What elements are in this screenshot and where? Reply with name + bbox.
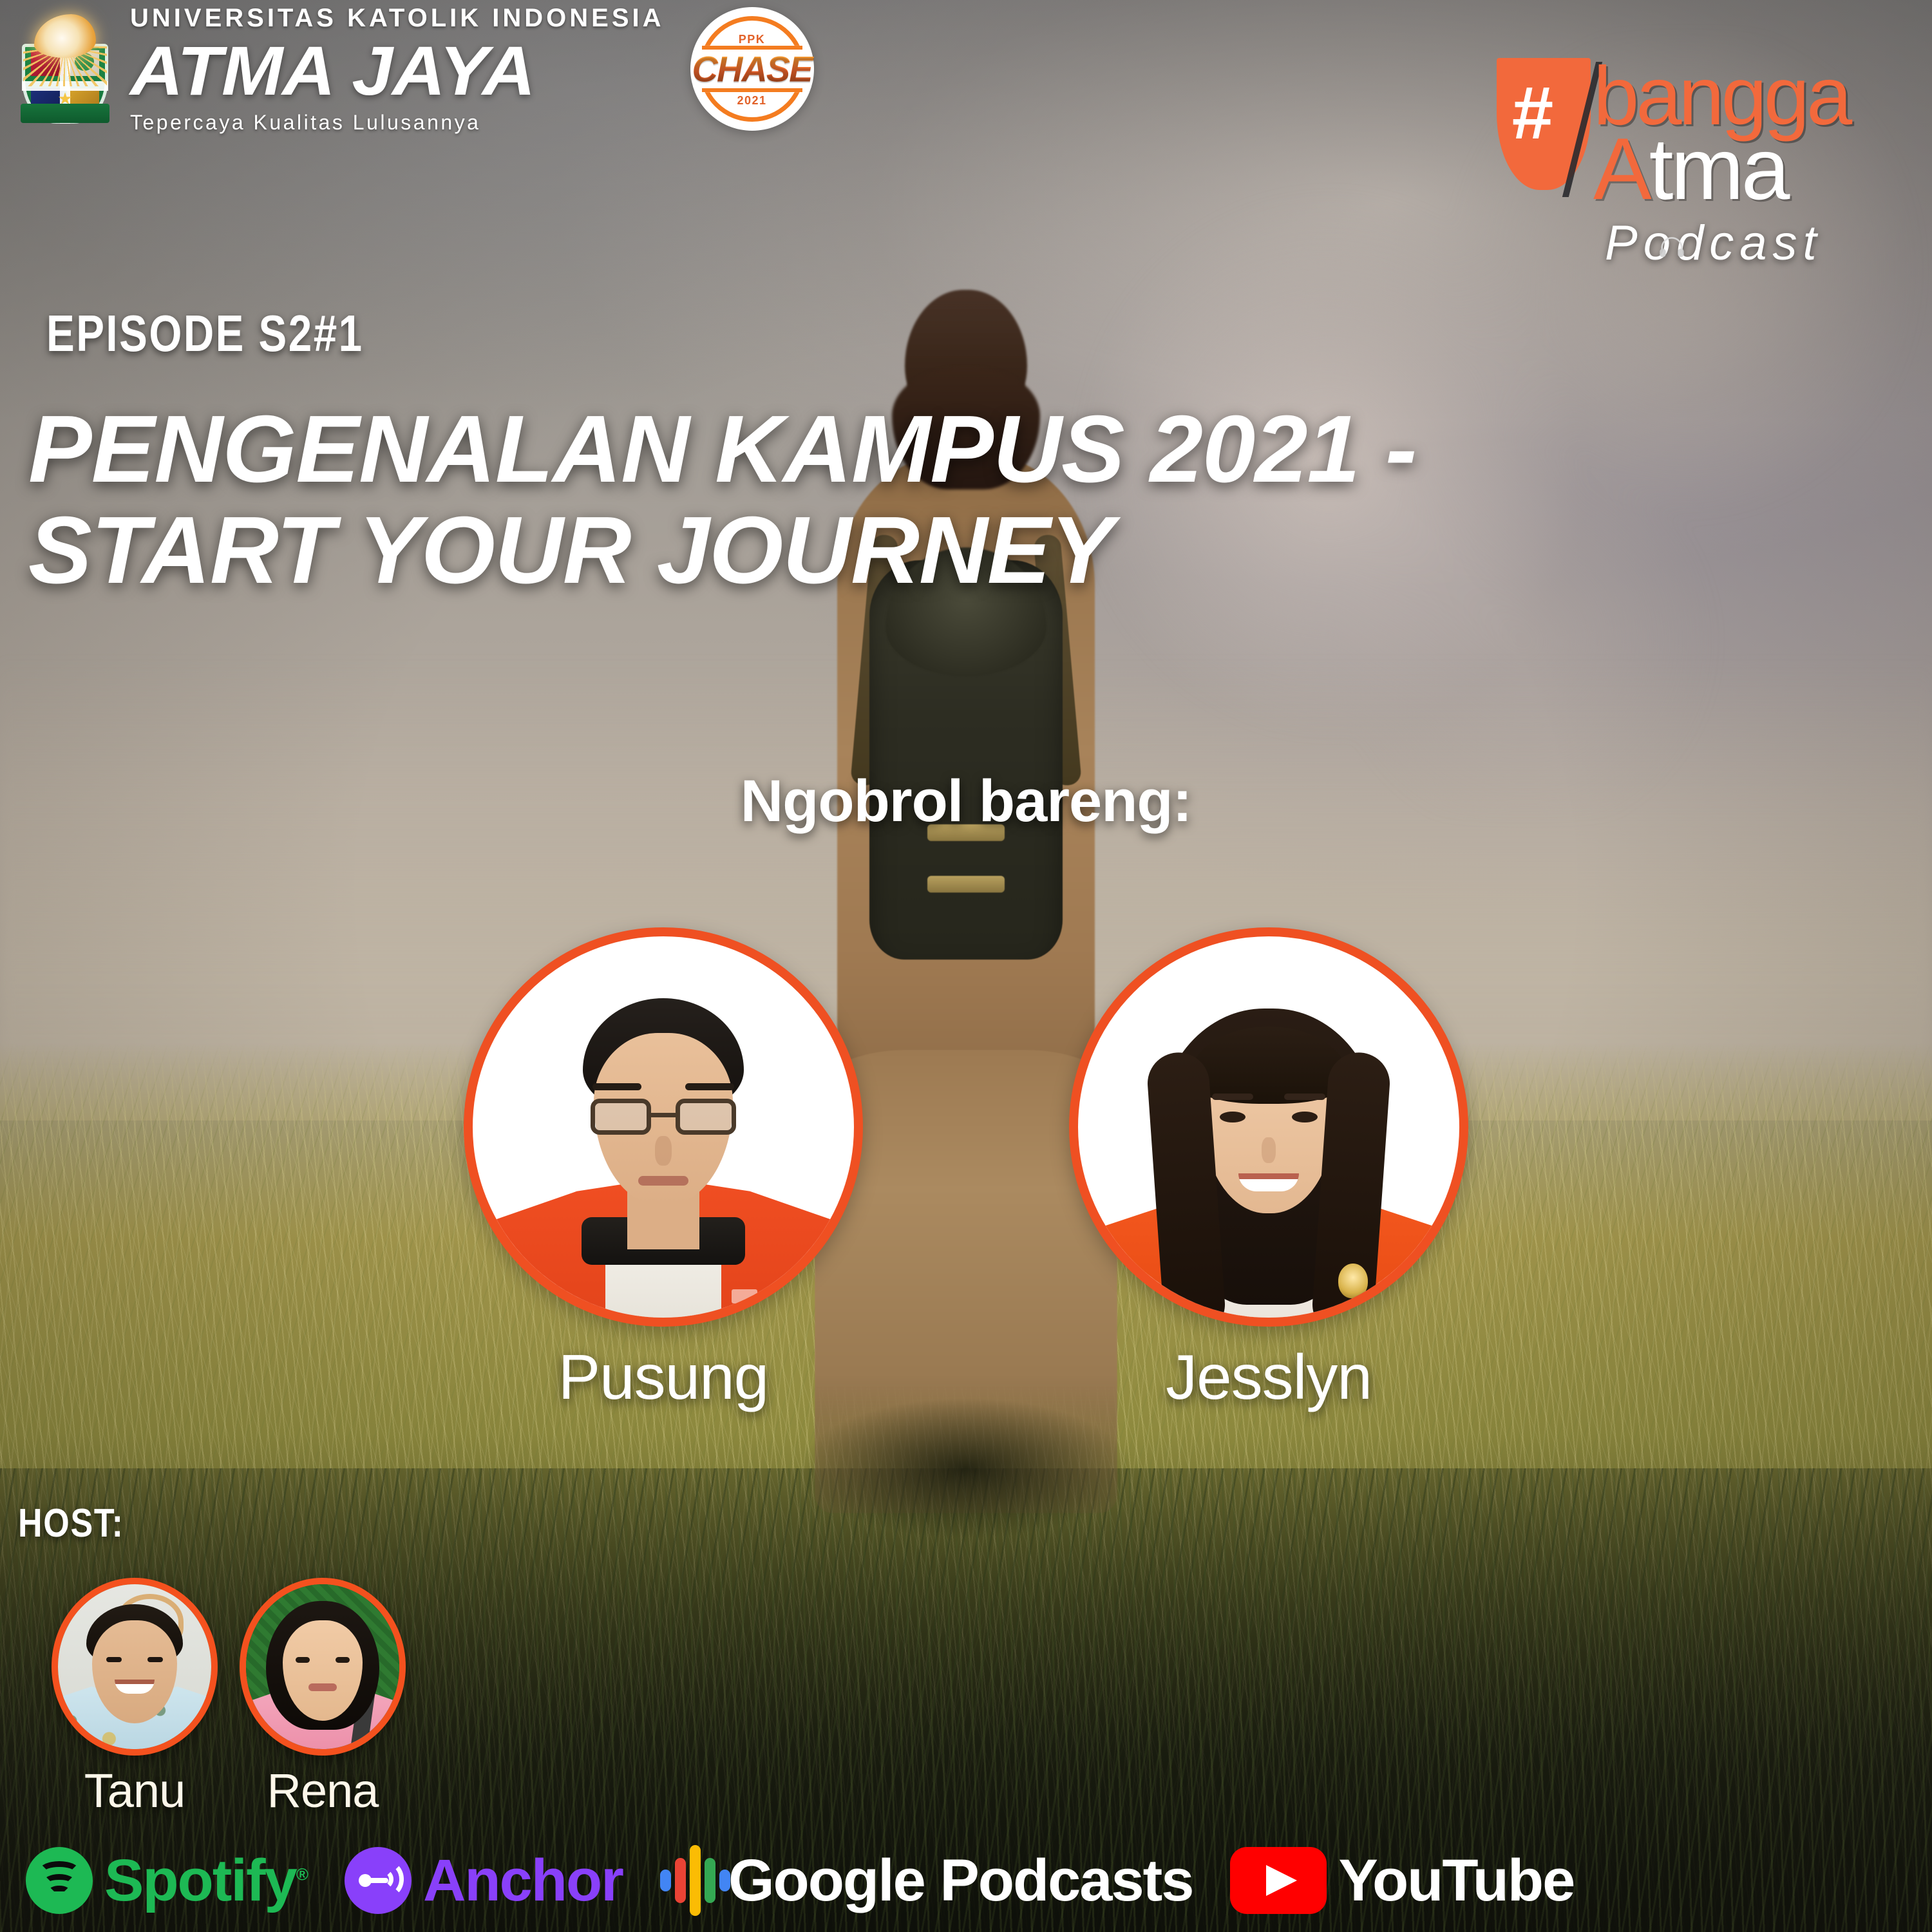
guests-list: Pusung Jesslyn	[0, 927, 1932, 1414]
guest-item: Pusung	[464, 927, 863, 1414]
platform-google-podcasts[interactable]: Google Podcasts	[660, 1845, 1193, 1916]
anchor-label: Anchor	[423, 1851, 623, 1910]
anchor-icon	[345, 1847, 412, 1914]
host-avatar	[52, 1578, 218, 1756]
university-name: ATMA JAYA	[130, 36, 696, 106]
episode-label: EPISODE S2#1	[46, 304, 364, 363]
guest-name: Jesslyn	[1166, 1341, 1372, 1414]
podcast-episode-poster: ★ UNIVERSITAS KATOLIK INDONESIA ATMA JAY…	[0, 0, 1932, 1932]
host-avatar	[240, 1578, 406, 1756]
guest-name: Pusung	[558, 1341, 768, 1414]
host-item: Tanu	[52, 1578, 218, 1818]
university-line-top: UNIVERSITAS KATOLIK INDONESIA	[130, 5, 665, 31]
logo-letters-tma: tma	[1649, 120, 1788, 218]
university-tagline: Tepercaya Kualitas Lulusannya	[130, 112, 665, 133]
logo-word-atma: Atma	[1593, 125, 1787, 213]
hosts-list: Tanu Rena	[52, 1578, 406, 1818]
youtube-icon	[1230, 1847, 1327, 1914]
platform-bar: Spotify® Anchor Google Podcasts YouTube	[0, 1829, 1932, 1932]
platform-anchor[interactable]: Anchor	[345, 1847, 623, 1914]
host-label: HOST:	[18, 1501, 124, 1546]
glasses-icon	[591, 1099, 736, 1135]
chase-name-label: CHASE	[690, 48, 814, 90]
google-podcasts-icon	[660, 1845, 717, 1916]
hash-icon: #	[1511, 84, 1580, 143]
episode-title-line1: PENGENALAN KAMPUS 2021 -	[28, 399, 1896, 500]
chase-year-label: 2021	[690, 94, 814, 108]
header-logos: ★ UNIVERSITAS KATOLIK INDONESIA ATMA JAY…	[17, 5, 814, 133]
dove-icon	[34, 14, 96, 58]
chase-badge-icon: PPK CHASE 2021	[690, 7, 814, 131]
google-podcasts-label: Google Podcasts	[728, 1851, 1193, 1910]
guest-avatar	[1069, 927, 1468, 1327]
bangga-atma-podcast-logo: # bangga Atma Podcast	[1497, 55, 1909, 268]
episode-title: PENGENALAN KAMPUS 2021 - START YOUR JOUR…	[28, 399, 1896, 601]
logo-subtitle-podcast: Podcast	[1605, 215, 1823, 271]
atma-jaya-crest-icon: ★	[17, 13, 113, 126]
guest-avatar	[464, 927, 863, 1327]
headphones-icon	[1658, 236, 1686, 258]
episode-title-line2: START YOUR JOURNEY	[28, 500, 1896, 601]
university-wordmark: UNIVERSITAS KATOLIK INDONESIA ATMA JAYA …	[130, 5, 665, 133]
youtube-label: YouTube	[1338, 1851, 1574, 1910]
platform-youtube[interactable]: YouTube	[1230, 1847, 1574, 1914]
spotify-label: Spotify®	[104, 1851, 307, 1910]
guests-heading: Ngobrol bareng:	[0, 768, 1932, 835]
host-item: Rena	[240, 1578, 406, 1818]
logo-letter-a: A	[1593, 120, 1649, 218]
host-name: Tanu	[84, 1763, 185, 1818]
host-name: Rena	[267, 1763, 379, 1818]
spotify-icon	[26, 1847, 93, 1914]
chase-ppk-label: PPK	[690, 33, 814, 46]
guest-item: Jesslyn	[1069, 927, 1468, 1414]
platform-spotify[interactable]: Spotify®	[26, 1847, 307, 1914]
